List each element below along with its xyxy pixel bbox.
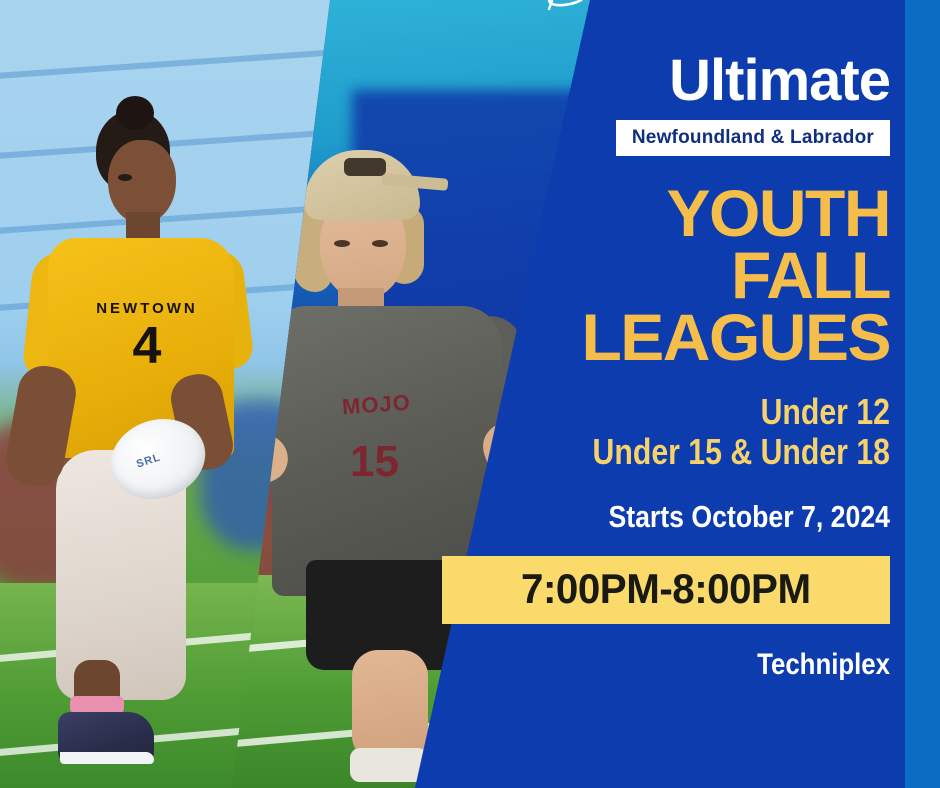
player-hair-bun bbox=[116, 96, 154, 130]
time-badge: 7:00PM-8:00PM bbox=[442, 556, 890, 624]
right-edge-stripe bbox=[905, 0, 940, 788]
age-divisions: Under 12 Under 15 & Under 18 bbox=[430, 392, 890, 473]
jersey-team-name: MOJO bbox=[341, 390, 411, 421]
jersey-team-name: NEWTOWN bbox=[92, 300, 202, 317]
player-sock bbox=[350, 748, 428, 782]
headline-line-2: FALL bbox=[430, 244, 890, 306]
brand-name: Ultimate bbox=[669, 52, 890, 110]
promo-poster: NEWTOWN 4 SRL bbox=[0, 0, 940, 788]
headline-line-1: YOUTH bbox=[430, 182, 890, 244]
brand-logo: Ultimate Newfoundland & Labrador bbox=[430, 52, 890, 156]
poster-content: Ultimate Newfoundland & Labrador YOUTH F… bbox=[430, 0, 890, 788]
time-text: 7:00PM-8:00PM bbox=[521, 568, 811, 610]
player-leg bbox=[352, 650, 428, 762]
flying-disc-icon bbox=[542, 0, 588, 10]
venue-name: Techniplex bbox=[494, 650, 890, 680]
headline-line-3: LEAGUES bbox=[430, 306, 890, 368]
division-line-2: Under 15 & Under 18 bbox=[504, 432, 890, 472]
jersey-number: 4 bbox=[92, 320, 202, 372]
cap-patch bbox=[344, 158, 386, 176]
disc-label: SRL bbox=[135, 451, 162, 470]
division-line-1: Under 12 bbox=[504, 392, 890, 432]
player-shoe bbox=[58, 712, 154, 764]
brand-region-badge: Newfoundland & Labrador bbox=[616, 120, 890, 156]
page-title: YOUTH FALL LEAGUES bbox=[430, 182, 890, 368]
jersey-number: 15 bbox=[350, 440, 399, 484]
start-date: Starts October 7, 2024 bbox=[494, 501, 890, 532]
